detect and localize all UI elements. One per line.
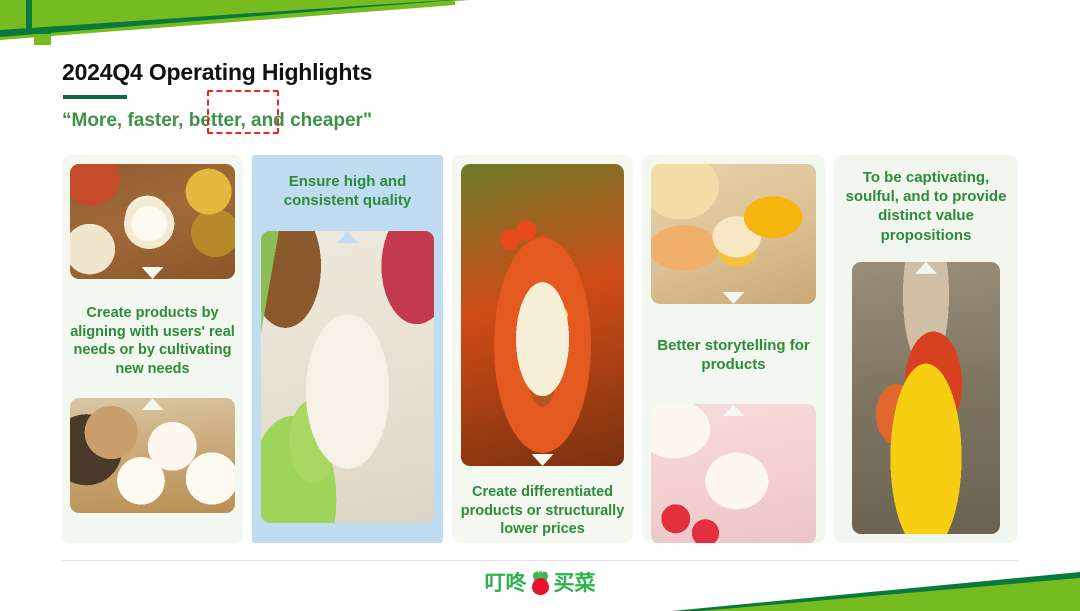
bubble-tail-down [723, 292, 745, 304]
highlight-card-2[interactable]: Ensure high and consistent quality [252, 155, 443, 543]
bubble-tail-up [337, 231, 359, 243]
lion-pastry-photo [461, 164, 624, 466]
slide-canvas: 2024Q4 Operating Highlights “More, faste… [0, 0, 1080, 611]
boiled-eggs-photo [70, 398, 235, 513]
title-underline-rule [63, 95, 127, 99]
highlight-cards-row: Create products by aligning with users' … [62, 155, 1027, 543]
juice-bottle-photo [651, 164, 816, 304]
highlight-card-3[interactable]: Create differentiated products or struct… [452, 155, 633, 543]
brand-logo-text-left: 叮咚 [485, 573, 527, 594]
bubble-tail-down [142, 267, 164, 279]
congee-bowl-photo [70, 164, 235, 279]
peking-duck-wrap-photo [261, 231, 434, 523]
bubble-tail-up [142, 398, 164, 410]
brand-logo: 叮咚 买菜 [0, 569, 1080, 597]
highlight-card-5-text: To be captivating, soulful, and to provi… [834, 168, 1018, 245]
highlight-card-2-text: Ensure high and consistent quality [252, 172, 443, 210]
highlight-card-4[interactable]: Better storytelling for products [642, 155, 825, 543]
highlight-card-5[interactable]: To be captivating, soulful, and to provi… [834, 155, 1018, 543]
bubble-tail-up [915, 262, 937, 274]
slide-header: 2024Q4 Operating Highlights “More, faste… [62, 58, 962, 136]
highlight-card-3-text: Create differentiated products or struct… [452, 483, 633, 539]
crab-on-float-photo [852, 262, 1000, 534]
page-title: 2024Q4 Operating Highlights [62, 58, 962, 86]
footer-divider [62, 560, 1018, 561]
highlight-card-1[interactable]: Create products by aligning with users' … [62, 155, 243, 543]
brand-logo-text-right: 买菜 [554, 573, 596, 594]
highlight-card-1-text: Create products by aligning with users' … [62, 304, 243, 378]
bubble-tail-down [532, 454, 554, 466]
highlight-card-4-text: Better storytelling for products [642, 336, 825, 374]
radish-icon [530, 572, 551, 595]
subtitle-wrapper: “More, faster, better, and cheaper" [62, 106, 962, 136]
bubble-tail-up [723, 404, 745, 416]
strawberry-cake-photo [651, 404, 816, 543]
slide-subtitle: “More, faster, better, and cheaper" [62, 106, 962, 136]
top-left-decoration [0, 0, 700, 60]
